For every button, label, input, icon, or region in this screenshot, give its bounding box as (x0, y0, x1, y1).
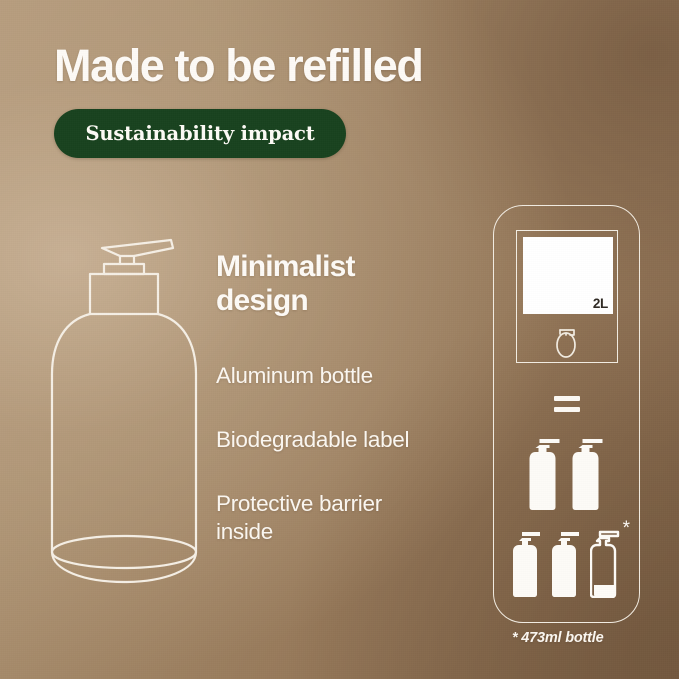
refill-box-white-label: 2L (523, 237, 613, 314)
refill-equivalence-panel: 2L (493, 205, 640, 623)
status-badge-label: Sustainability impact (85, 122, 314, 145)
bottle-row-three (512, 528, 622, 598)
page-title: Made to be refilled (54, 38, 422, 94)
pump-bottle-filled-icon (571, 434, 605, 512)
feature-list-title: Minimalist design (216, 250, 431, 318)
feature-item-aluminum-bottle: Aluminum bottle (216, 362, 431, 390)
footnote-text: * 473ml bottle (512, 630, 603, 646)
status-badge: Sustainability impact (54, 109, 346, 158)
pump-bottle-outline-svg (46, 222, 206, 594)
pump-bottle-filled-icon (512, 528, 544, 598)
bottle-row-two (528, 434, 605, 512)
asterisk-marker: * (623, 519, 630, 538)
pump-bottle-filled-icon (551, 528, 583, 598)
refill-box-icon: 2L (516, 230, 618, 363)
equals-bar-bottom (554, 407, 580, 412)
tap-dispenser-icon (550, 323, 584, 364)
feature-item-biodegradable-label: Biodegradable label (216, 426, 431, 454)
equals-icon (554, 396, 580, 412)
pump-bottle-filled-icon (528, 434, 562, 512)
feature-list: Minimalist design Aluminum bottle Biodeg… (216, 250, 431, 546)
promo-banner: Made to be refilled Sustainability impac… (0, 0, 679, 679)
pump-bottle-outline-small-icon (590, 528, 622, 598)
pump-bottle-outline-icon (46, 222, 206, 594)
refill-volume-label: 2L (593, 297, 608, 311)
tap-dispenser-svg (550, 323, 584, 359)
equals-bar-top (554, 396, 580, 401)
feature-item-protective-barrier: Protective barrier inside (216, 490, 431, 546)
